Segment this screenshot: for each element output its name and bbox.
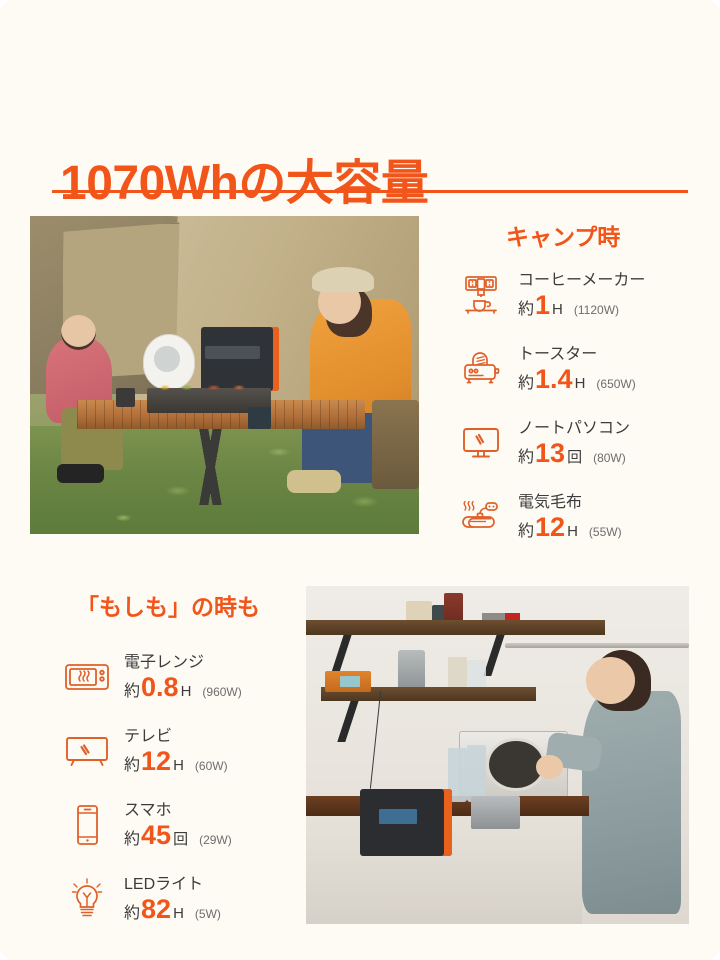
- kitchen-canister: [448, 657, 467, 687]
- appliance-value: 約 45 回 (29W): [124, 822, 316, 849]
- runtime-value: 1.4: [535, 366, 573, 393]
- list-item-text: コーヒーメーカー 約 1 H (1120W): [512, 271, 710, 319]
- header-divider: [52, 190, 688, 193]
- appliance-name: コーヒーメーカー: [518, 271, 710, 291]
- appliance-value: 約 82 H (5W): [124, 896, 316, 923]
- approx-label: 約: [518, 517, 534, 541]
- runtime-unit: H: [181, 683, 192, 700]
- runtime-unit: H: [173, 757, 184, 774]
- list-item: LEDライト 約 82 H (5W): [56, 862, 316, 936]
- runtime-value: 1: [535, 292, 550, 319]
- section-title-camping: キャンプ時: [506, 218, 620, 252]
- camp-mug-right: [248, 407, 271, 429]
- appliance-value: 約 1 H (1120W): [518, 292, 710, 319]
- kitchen-pot: [471, 796, 521, 830]
- appliance-list-camping: コーヒーメーカー 約 1 H (1120W): [450, 258, 710, 554]
- camp-woman-cap: [312, 267, 374, 292]
- runtime-unit: H: [552, 301, 563, 318]
- kitchen-glass: [467, 660, 486, 687]
- camp-power-station-panel: [205, 346, 259, 359]
- list-item-text: LEDライト 約 82 H (5W): [118, 875, 316, 923]
- tv-icon: [56, 734, 118, 768]
- camp-food: [154, 381, 263, 394]
- camp-fan-hub: [154, 346, 179, 371]
- list-item-text: ノートパソコン 約 13 回 (80W): [512, 419, 710, 467]
- runtime-value: 0.8: [141, 674, 179, 701]
- list-item-text: トースター 約 1.4 H (650W): [512, 345, 710, 393]
- runtime-unit: 回: [173, 828, 188, 849]
- appliance-value: 約 13 回 (80W): [518, 440, 710, 467]
- appliance-name: テレビ: [124, 727, 316, 747]
- list-item-text: 電気毛布 約 12 H (55W): [512, 493, 710, 541]
- appliance-value: 約 0.8 H (960W): [124, 674, 316, 701]
- approx-label: 約: [124, 677, 140, 701]
- wattage-label: (5W): [195, 907, 221, 921]
- appliance-list-emergency: 電子レンジ 約 0.8 H (960W) テレビ: [56, 640, 316, 936]
- list-item: トースター 約 1.4 H (650W): [450, 332, 710, 406]
- wattage-label: (60W): [195, 759, 228, 773]
- appliance-name: トースター: [518, 345, 710, 365]
- appliance-name: ノートパソコン: [518, 419, 710, 439]
- appliance-name: スマホ: [124, 801, 316, 821]
- wattage-label: (29W): [199, 833, 232, 847]
- camp-mug-left: [116, 388, 135, 407]
- kitchen-woman-hand: [536, 755, 563, 779]
- appliance-name: LEDライト: [124, 875, 316, 895]
- approx-label: 約: [124, 825, 140, 849]
- list-item: スマホ 約 45 回 (29W): [56, 788, 316, 862]
- wattage-label: (80W): [593, 451, 626, 465]
- list-item: ノートパソコン 約 13 回 (80W): [450, 406, 710, 480]
- kitchen-lantern: [398, 650, 425, 691]
- camp-child-shoe: [57, 464, 104, 483]
- approx-label: 約: [518, 295, 534, 319]
- toaster-icon: [450, 350, 512, 388]
- kitchen-water-bottle: [467, 745, 486, 802]
- list-item-text: テレビ 約 12 H (60W): [118, 727, 316, 775]
- runtime-value: 82: [141, 896, 171, 923]
- runtime-unit: 回: [567, 446, 582, 467]
- wattage-label: (1120W): [574, 303, 619, 317]
- runtime-unit: H: [567, 523, 578, 540]
- kitchen-photo: [306, 586, 689, 924]
- runtime-value: 12: [141, 748, 171, 775]
- appliance-name: 電気毛布: [518, 493, 710, 513]
- laptop-icon: [450, 424, 512, 462]
- appliance-value: 約 12 H (55W): [518, 514, 710, 541]
- smartphone-icon: [56, 803, 118, 847]
- section-title-emergency: 「もしも」の時も: [76, 588, 260, 622]
- appliance-name: 電子レンジ: [124, 653, 316, 673]
- list-item-text: 電子レンジ 約 0.8 H (960W): [118, 653, 316, 701]
- list-item-text: スマホ 約 45 回 (29W): [118, 801, 316, 849]
- product-feature-panel: 1070Whの大容量 1500Wの出力 キャンプ時: [0, 0, 720, 960]
- runtime-value: 45: [141, 822, 171, 849]
- wattage-label: (650W): [596, 377, 635, 391]
- wattage-label: (960W): [202, 685, 241, 699]
- kitchen-shelf-upper: [306, 620, 605, 635]
- approx-label: 約: [124, 751, 140, 775]
- wattage-label: (55W): [589, 525, 622, 539]
- list-item: 電子レンジ 約 0.8 H (960W): [56, 640, 316, 714]
- led-light-icon: [56, 877, 118, 921]
- kitchen-power-station-screen: [379, 809, 417, 824]
- appliance-value: 約 12 H (60W): [124, 748, 316, 775]
- electric-blanket-icon: [450, 498, 512, 536]
- runtime-value: 13: [535, 440, 565, 467]
- headline-line-1: 1070Whの大容量: [60, 155, 428, 214]
- runtime-value: 12: [535, 514, 565, 541]
- approx-label: 約: [518, 369, 534, 393]
- list-item: テレビ 約 12 H (60W): [56, 714, 316, 788]
- runtime-unit: H: [575, 375, 586, 392]
- camp-child-head: [61, 315, 96, 350]
- kitchen-radio-screen: [340, 676, 359, 688]
- approx-label: 約: [124, 899, 140, 923]
- kitchen-rail: [505, 643, 689, 648]
- camp-table-legs: [108, 429, 322, 505]
- coffee-maker-icon: [450, 274, 512, 316]
- approx-label: 約: [518, 443, 534, 467]
- kitchen-jar: [444, 593, 463, 623]
- microwave-icon: [56, 660, 118, 694]
- runtime-unit: H: [173, 905, 184, 922]
- appliance-value: 約 1.4 H (650W): [518, 366, 710, 393]
- list-item: 電気毛布 約 12 H (55W): [450, 480, 710, 554]
- camping-photo: [30, 216, 419, 534]
- camp-chair: [372, 400, 419, 489]
- list-item: コーヒーメーカー 約 1 H (1120W): [450, 258, 710, 332]
- kitchen-woman: [582, 691, 682, 914]
